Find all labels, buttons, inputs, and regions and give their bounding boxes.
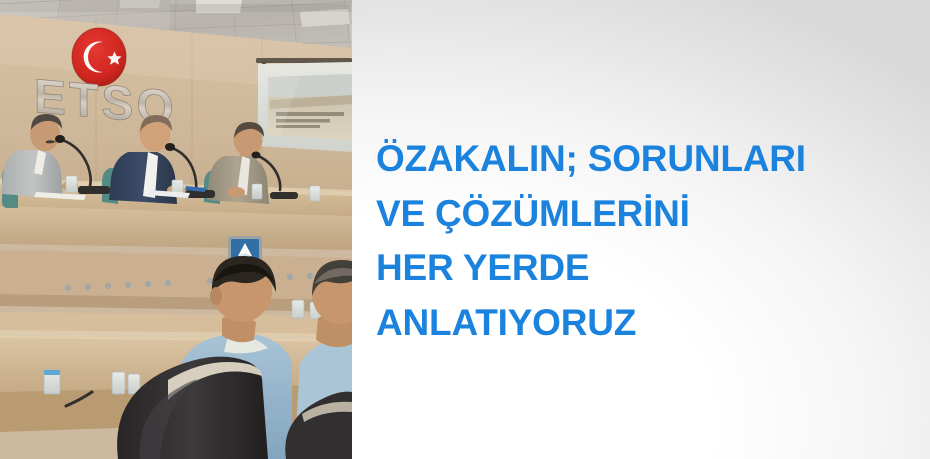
headline-line-1: ÖZAKALIN; SORUNLARI bbox=[376, 132, 916, 187]
headline-line-2: VE ÇÖZÜMLERİNİ bbox=[376, 187, 916, 242]
headline-line-3: HER YERDE bbox=[376, 241, 916, 296]
news-thumbnail-card: ETSO bbox=[0, 0, 930, 459]
conference-room-illustration: ETSO bbox=[0, 0, 352, 459]
article-photo: ETSO bbox=[0, 0, 352, 459]
headline-panel: ÖZAKALIN; SORUNLARI VE ÇÖZÜMLERİNİ HER Y… bbox=[352, 0, 930, 459]
headline-block: ÖZAKALIN; SORUNLARI VE ÇÖZÜMLERİNİ HER Y… bbox=[376, 132, 916, 350]
headline-line-4: ANLATIYORUZ bbox=[376, 296, 916, 351]
